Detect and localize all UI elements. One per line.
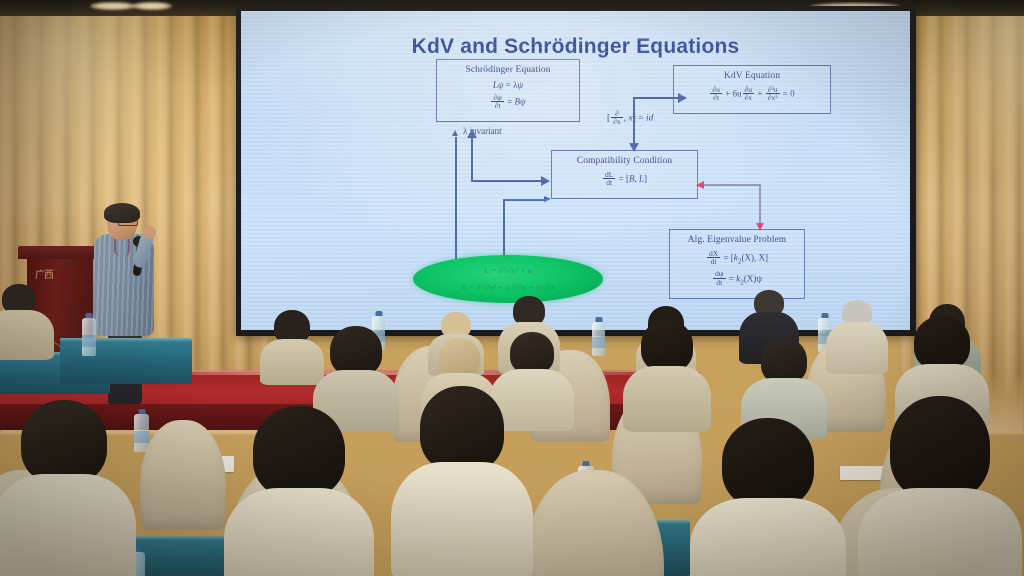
ceiling-light-icon: [132, 2, 172, 10]
audience-member: [828, 300, 886, 372]
kdv-equation-box: KdV Equation ∂u∂t + 6u∂u∂x + ∂³u∂x³ = 0: [673, 65, 831, 114]
arrowhead-icon: [544, 196, 551, 202]
audience-member: [262, 310, 322, 376]
arrowhead-icon: [452, 130, 458, 136]
connector-line: [455, 137, 457, 267]
connector-line: [471, 180, 543, 182]
connector-line: [503, 199, 505, 263]
glasses-icon: [118, 220, 138, 226]
schrodinger-equation-box: Schrödinger Equation Lψ = λψ ∂ψ∂t = Bψ: [436, 59, 580, 122]
audience-member: [628, 320, 706, 420]
conference-table: [60, 338, 192, 384]
arrowhead-icon: [541, 176, 550, 186]
audience-member: [0, 284, 50, 354]
lecture-hall-photo: KdV and Schrödinger Equations Schrödinge…: [0, 0, 1024, 576]
presenter-hand: [143, 226, 156, 239]
eigenvalue-box-header: Alg. Eigenvalue Problem: [678, 235, 796, 245]
kdv-eq-1: ∂u∂t + 6u∂u∂x + ∂³u∂x³ = 0: [682, 86, 822, 103]
connector-line: [503, 199, 547, 201]
accent-connector-line: [759, 184, 761, 228]
connector-line: [471, 138, 473, 182]
schrodinger-box-header: Schrödinger Equation: [445, 65, 571, 75]
slide-title: KdV and Schrödinger Equations: [241, 35, 910, 59]
audience-member: [700, 418, 836, 576]
audience-member: [870, 396, 1010, 576]
arrowhead-icon: [467, 129, 477, 138]
compatibility-box-header: Compatibility Condition: [560, 156, 689, 166]
algebraic-eigenvalue-problem-box: Alg. Eigenvalue Problem dXdt = [k2(X), X…: [669, 229, 805, 299]
connector-line: [633, 97, 681, 99]
schrodinger-eq-2: ∂ψ∂t = Bψ: [445, 94, 571, 111]
commutator-annotation: [∂∂x, x] = id: [607, 110, 653, 127]
eigenvalue-eq-2: dψdt = k2(X)ψ: [678, 271, 796, 288]
water-bottle: [592, 322, 605, 356]
compatibility-condition-box: Compatibility Condition dLdt = [B, L]: [551, 150, 698, 199]
accent-arrowhead-icon: [696, 181, 704, 189]
connector-line: [633, 97, 635, 147]
accent-connector-line: [703, 184, 761, 186]
eigenvalue-eq-1: dXdt = [k2(X), X]: [678, 250, 796, 267]
water-bottle: [82, 318, 96, 356]
kdv-box-header: KdV Equation: [682, 71, 822, 81]
arrowhead-icon: [629, 143, 639, 152]
accent-arrowhead-icon: [756, 223, 764, 231]
schrodinger-eq-1: Lψ = λψ: [445, 80, 571, 90]
audience-member: [318, 326, 394, 418]
audience-member: [400, 386, 524, 576]
compatibility-eq-1: dLdt = [B, L]: [560, 171, 689, 188]
arrowhead-icon: [678, 93, 687, 103]
audience-member: [236, 406, 362, 576]
projection-screen: KdV and Schrödinger Equations Schrödinge…: [241, 11, 910, 330]
projection-screen-frame: KdV and Schrödinger Equations Schrödinge…: [236, 6, 916, 336]
ceiling-light-icon: [90, 2, 136, 10]
chair: [140, 420, 226, 530]
audience-member: [4, 400, 124, 576]
